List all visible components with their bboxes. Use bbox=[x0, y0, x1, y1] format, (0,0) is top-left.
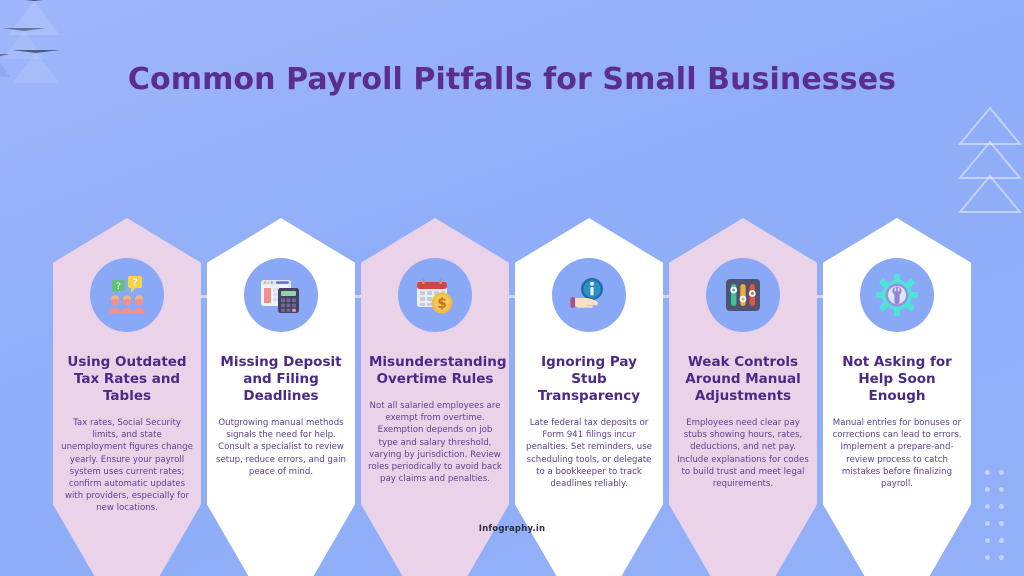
pitfall-column-6[interactable]: Not Asking for Help Soon Enough Manual e… bbox=[823, 218, 971, 576]
pitfall-column-3[interactable]: $ Misunderstanding Overtime Rules Not al… bbox=[361, 218, 509, 576]
pitfall-column-5[interactable]: Weak Controls Around Manual Adjustments … bbox=[669, 218, 817, 576]
column-body: Employees need clear pay stubs showing h… bbox=[676, 417, 810, 490]
hand-info-icon bbox=[552, 258, 626, 332]
svg-text:?: ? bbox=[116, 282, 121, 292]
column-body: Tax rates, Social Security limits, and s… bbox=[60, 417, 194, 515]
column-body: Manual entries for bonuses or correction… bbox=[830, 417, 964, 490]
calculator-spreadsheet-icon bbox=[244, 258, 318, 332]
column-title: Not Asking for Help Soon Enough bbox=[831, 354, 963, 405]
people-question-icon: ? ? bbox=[90, 258, 164, 332]
triangle-outline-svg bbox=[958, 104, 1022, 216]
column-title: Using Outdated Tax Rates and Tables bbox=[61, 354, 193, 405]
watermark: Infography.in bbox=[479, 524, 545, 534]
svg-text:?: ? bbox=[132, 278, 137, 289]
column-body: Late federal tax deposits or Form 941 fi… bbox=[522, 417, 656, 490]
column-title: Ignoring Pay Stub Transparency bbox=[523, 354, 655, 405]
sliders-control-icon bbox=[706, 258, 780, 332]
column-title: Misunderstanding Overtime Rules bbox=[369, 354, 501, 388]
decorative-triangle-group-right bbox=[958, 104, 1022, 216]
decorative-triangle bbox=[8, 0, 60, 35]
pitfall-columns: ? ? bbox=[0, 218, 1024, 576]
column-body: Not all salaried employees are exempt fr… bbox=[368, 400, 502, 485]
infographic-canvas: Common Payroll Pitfalls for Small Busine… bbox=[0, 0, 1024, 576]
pitfall-column-4[interactable]: Ignoring Pay Stub Transparency Late fede… bbox=[515, 218, 663, 576]
decorative-triangle bbox=[2, 28, 46, 59]
column-title: Weak Controls Around Manual Adjustments bbox=[677, 354, 809, 405]
column-title: Missing Deposit and Filing Deadlines bbox=[215, 354, 347, 405]
gear-wrench-icon bbox=[860, 258, 934, 332]
pitfall-column-1[interactable]: ? ? bbox=[53, 218, 201, 576]
svg-text:$: $ bbox=[437, 296, 447, 312]
column-body: Outgrowing manual methods signals the ne… bbox=[214, 417, 348, 478]
pitfall-column-2[interactable]: Missing Deposit and Filing Deadlines Out… bbox=[207, 218, 355, 576]
page-title: Common Payroll Pitfalls for Small Busine… bbox=[0, 62, 1024, 97]
calendar-dollar-icon: $ bbox=[398, 258, 472, 332]
